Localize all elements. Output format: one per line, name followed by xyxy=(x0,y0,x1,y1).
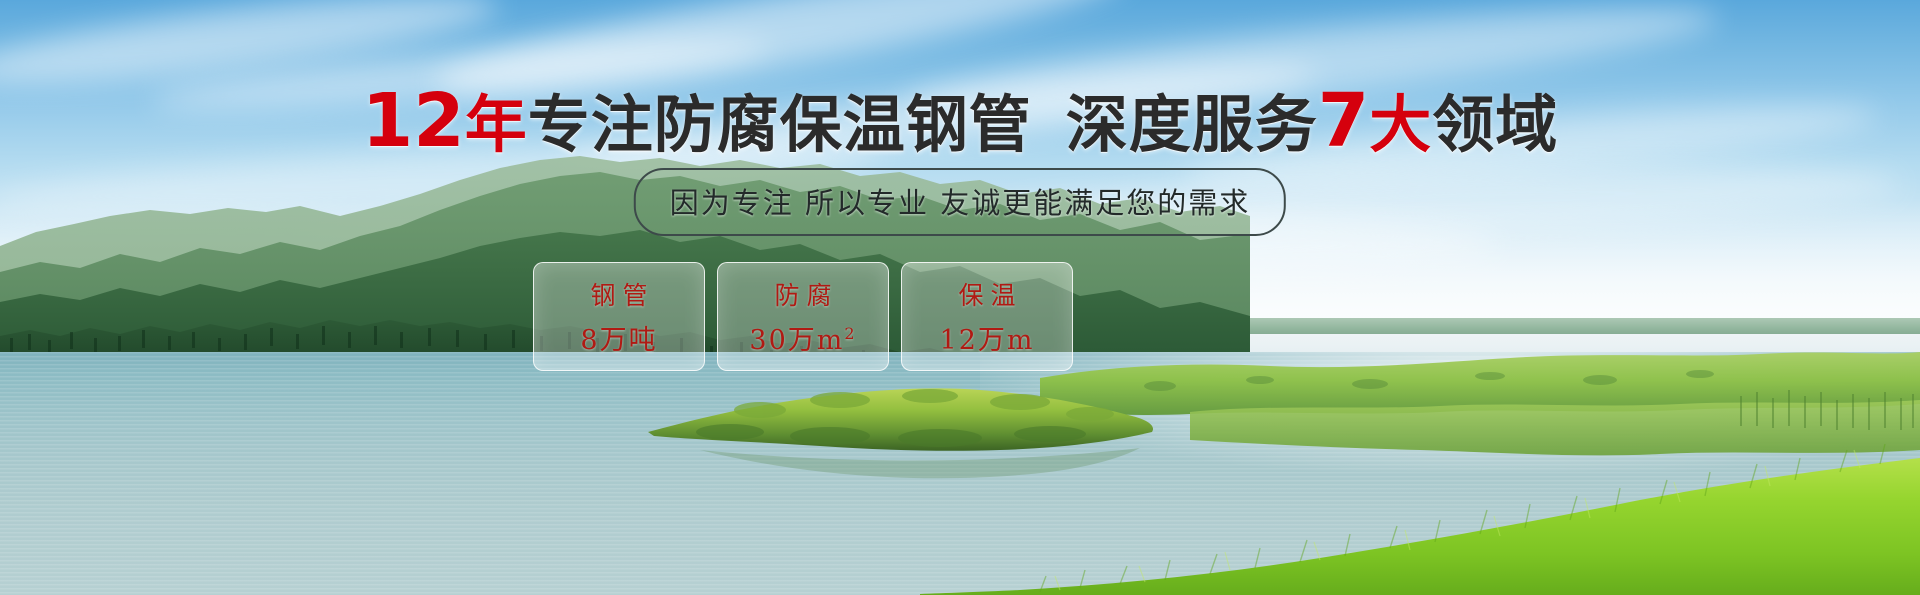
stat-value-text: 12万m xyxy=(940,325,1035,356)
headline-tail-suffix: 领域 xyxy=(1432,88,1558,161)
foreground-grass xyxy=(920,430,1920,595)
headline-years-unit: 年 xyxy=(465,88,528,161)
stat-card-value: 12万m xyxy=(940,318,1035,357)
stat-card-steel-pipe[interactable]: 钢管 8万吨 xyxy=(533,262,705,371)
stat-card-value: 30万m2 xyxy=(749,318,856,357)
stat-value-text: 30万m xyxy=(749,325,844,356)
stat-card-insulation[interactable]: 保温 12万m xyxy=(901,262,1073,371)
headline-years-number: 12 xyxy=(362,78,465,164)
stat-card-value: 8万吨 xyxy=(580,318,657,357)
subtitle-pill: 因为专注 所以专业 友诚更能满足您的需求 xyxy=(634,168,1286,236)
hero-banner: 12年专注防腐保温钢管深度服务7大领域 因为专注 所以专业 友诚更能满足您的需求… xyxy=(0,0,1920,595)
stat-value-text: 8万吨 xyxy=(580,325,657,356)
page-title: 12年专注防腐保温钢管深度服务7大领域 xyxy=(0,84,1920,158)
headline-middle: 专注防腐保温钢管 xyxy=(528,88,1032,161)
stat-card-group: 钢管 8万吨 防腐 30万m2 保温 12万m xyxy=(533,262,1073,371)
stat-card-label: 防腐 xyxy=(767,276,838,312)
headline-fields-accent: 大 xyxy=(1369,88,1432,161)
headline-tail-prefix: 深度服务 xyxy=(1066,88,1318,161)
stat-card-label: 保温 xyxy=(951,276,1022,312)
stat-card-anticorrosion[interactable]: 防腐 30万m2 xyxy=(717,262,889,371)
headline-fields-number: 7 xyxy=(1318,78,1370,164)
stat-value-superscript: 2 xyxy=(844,324,856,343)
stat-card-label: 钢管 xyxy=(583,276,654,312)
